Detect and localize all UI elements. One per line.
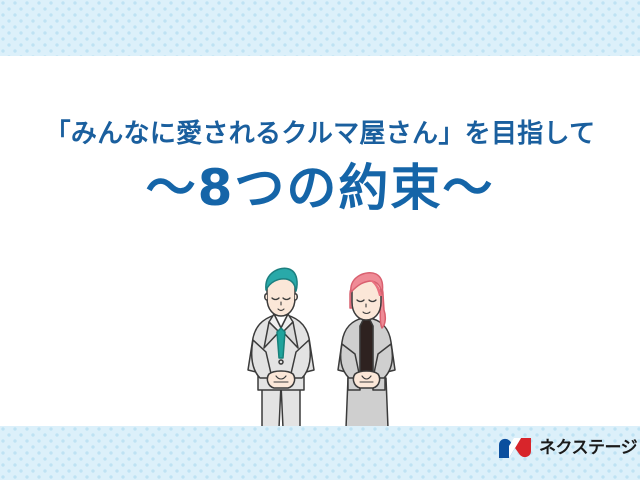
man-figure (248, 268, 314, 428)
headline-title: 〜8つの約束〜 (0, 161, 640, 216)
slide-canvas: 「みんなに愛されるクルマ屋さん」を目指して 〜8つの約束〜 (0, 0, 640, 480)
bowing-staff-illustration (236, 266, 416, 428)
nextage-n-mark-icon (498, 437, 532, 459)
headline-subtitle: 「みんなに愛されるクルマ屋さん」を目指して (0, 118, 640, 151)
brand-logo: ネクステージ (498, 437, 637, 459)
headline-block: 「みんなに愛されるクルマ屋さん」を目指して 〜8つの約束〜 (0, 118, 640, 216)
top-polka-dot-band (0, 0, 640, 56)
woman-figure (338, 273, 395, 428)
brand-wordmark: ネクステージ (539, 440, 637, 457)
